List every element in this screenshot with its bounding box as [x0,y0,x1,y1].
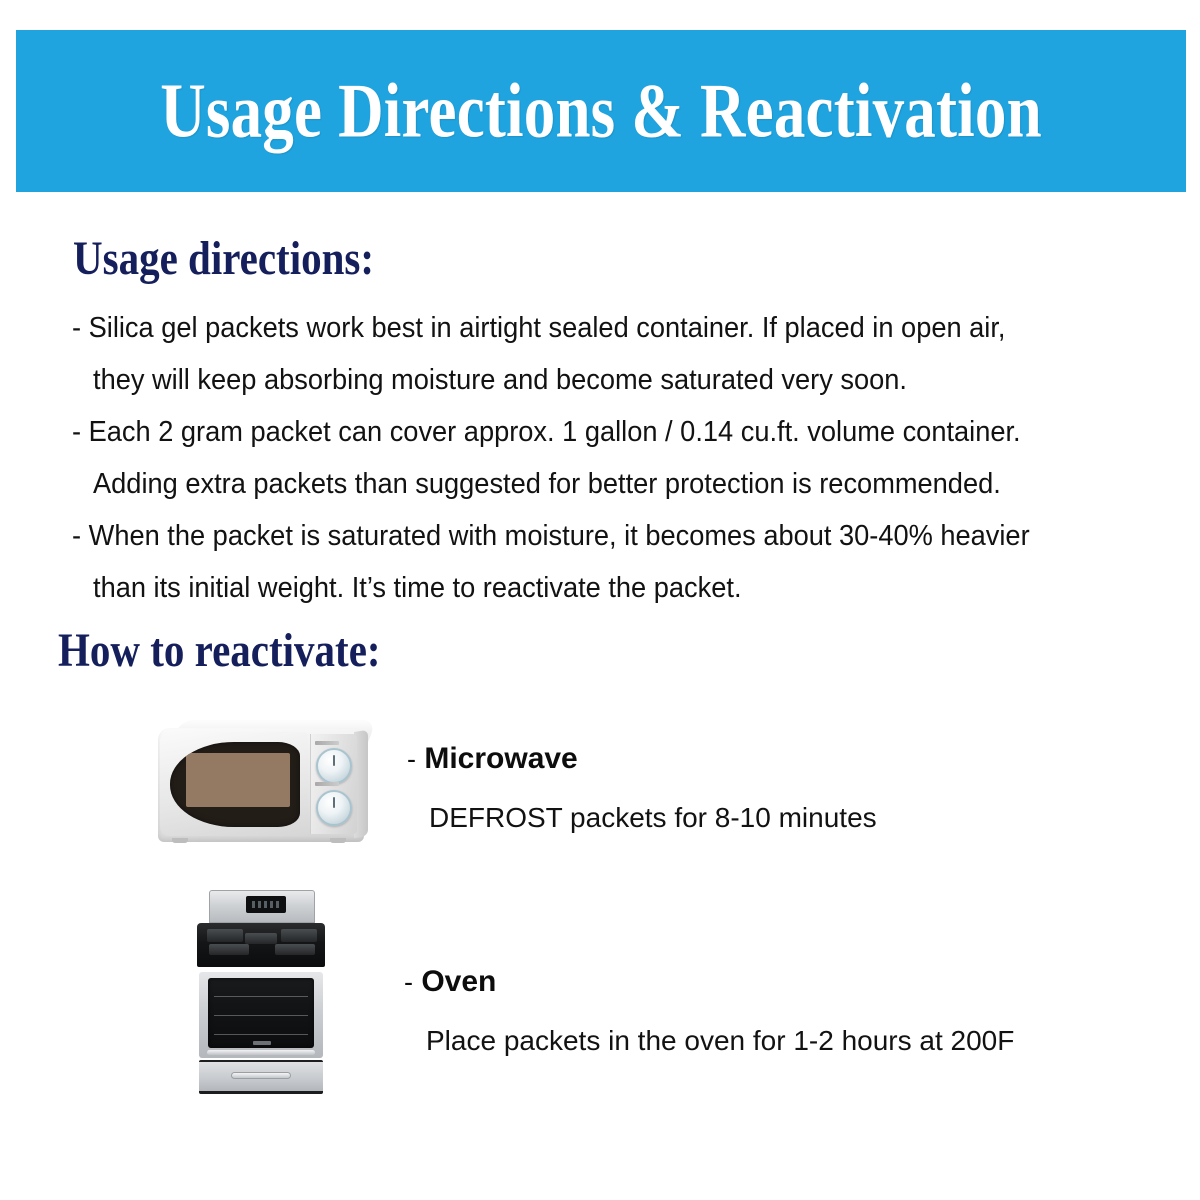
oven-door [199,972,323,1058]
usage-bullet-1-line-1: - Silica gel packets work best in airtig… [72,302,1113,354]
oven-icon [195,890,327,1094]
usage-bullet-1: - Silica gel packets work best in airtig… [72,302,1162,406]
microwave-icon [158,720,372,848]
usage-bullet-2-line-1: - Each 2 gram packet can cover approx. 1… [72,406,1113,458]
oven-label: - Oven [404,965,1014,998]
usage-bullet-3: - When the packet is saturated with mois… [72,510,1162,614]
oven-dash: - [404,967,413,997]
oven-cooktop [197,923,325,967]
oven-rack [214,1015,308,1016]
microwave-instruction: DEFROST packets for 8-10 minutes [407,803,877,834]
oven-burner-grate [207,929,243,942]
oven-brand-badge [253,1041,271,1045]
oven-display-screen [246,896,286,913]
microwave-label-text: Microwave [424,742,577,775]
oven-door-window [208,978,314,1048]
usage-bullet-1-line-2: they will keep absorbing moisture and be… [72,354,1113,406]
oven-instruction: Place packets in the oven for 1-2 hours … [404,1026,1014,1057]
oven-drawer-handle [231,1072,291,1079]
usage-directions-list: - Silica gel packets work best in airtig… [72,302,1162,614]
microwave-label: - Microwave [407,742,877,775]
oven-label-text: Oven [421,965,496,998]
header-banner: Usage Directions & Reactivation [16,30,1186,192]
oven-burner-grate [245,933,277,944]
how-to-reactivate-heading: How to reactivate: [58,627,381,675]
microwave-control-panel [310,734,357,834]
oven-burner-grate [275,944,315,955]
oven-burner-grate [281,929,317,942]
usage-bullet-3-line-1: - When the packet is saturated with mois… [72,510,1113,562]
microwave-door [160,732,308,836]
oven-door-handle [207,1050,315,1055]
microwave-foot-right [330,838,346,843]
microwave-text-block: - Microwave DEFROST packets for 8-10 min… [407,742,877,834]
usage-bullet-2-line-2: Adding extra packets than suggested for … [72,458,1113,510]
usage-directions-heading: Usage directions: [73,235,374,283]
oven-base [199,1091,323,1094]
oven-storage-drawer [199,1060,323,1094]
oven-rack [214,996,308,997]
microwave-foot-left [172,838,188,843]
microwave-power-dial [316,748,352,784]
usage-bullet-3-line-2: than its initial weight. It’s time to re… [72,562,1113,614]
infographic-page: Usage Directions & Reactivation Usage di… [0,0,1200,1200]
microwave-label-slot-top [315,741,339,745]
page-title: Usage Directions & Reactivation [160,73,1042,150]
oven-backsplash [209,890,315,923]
microwave-label-slot-bottom [315,782,339,786]
oven-text-block: - Oven Place packets in the oven for 1-2… [404,965,1014,1057]
microwave-dash: - [407,744,416,774]
oven-burner-grate [209,944,249,955]
microwave-mesh-screen [186,753,290,807]
oven-rack [214,1034,308,1035]
microwave-window [170,742,300,827]
microwave-timer-dial [316,790,352,826]
usage-bullet-2: - Each 2 gram packet can cover approx. 1… [72,406,1162,510]
